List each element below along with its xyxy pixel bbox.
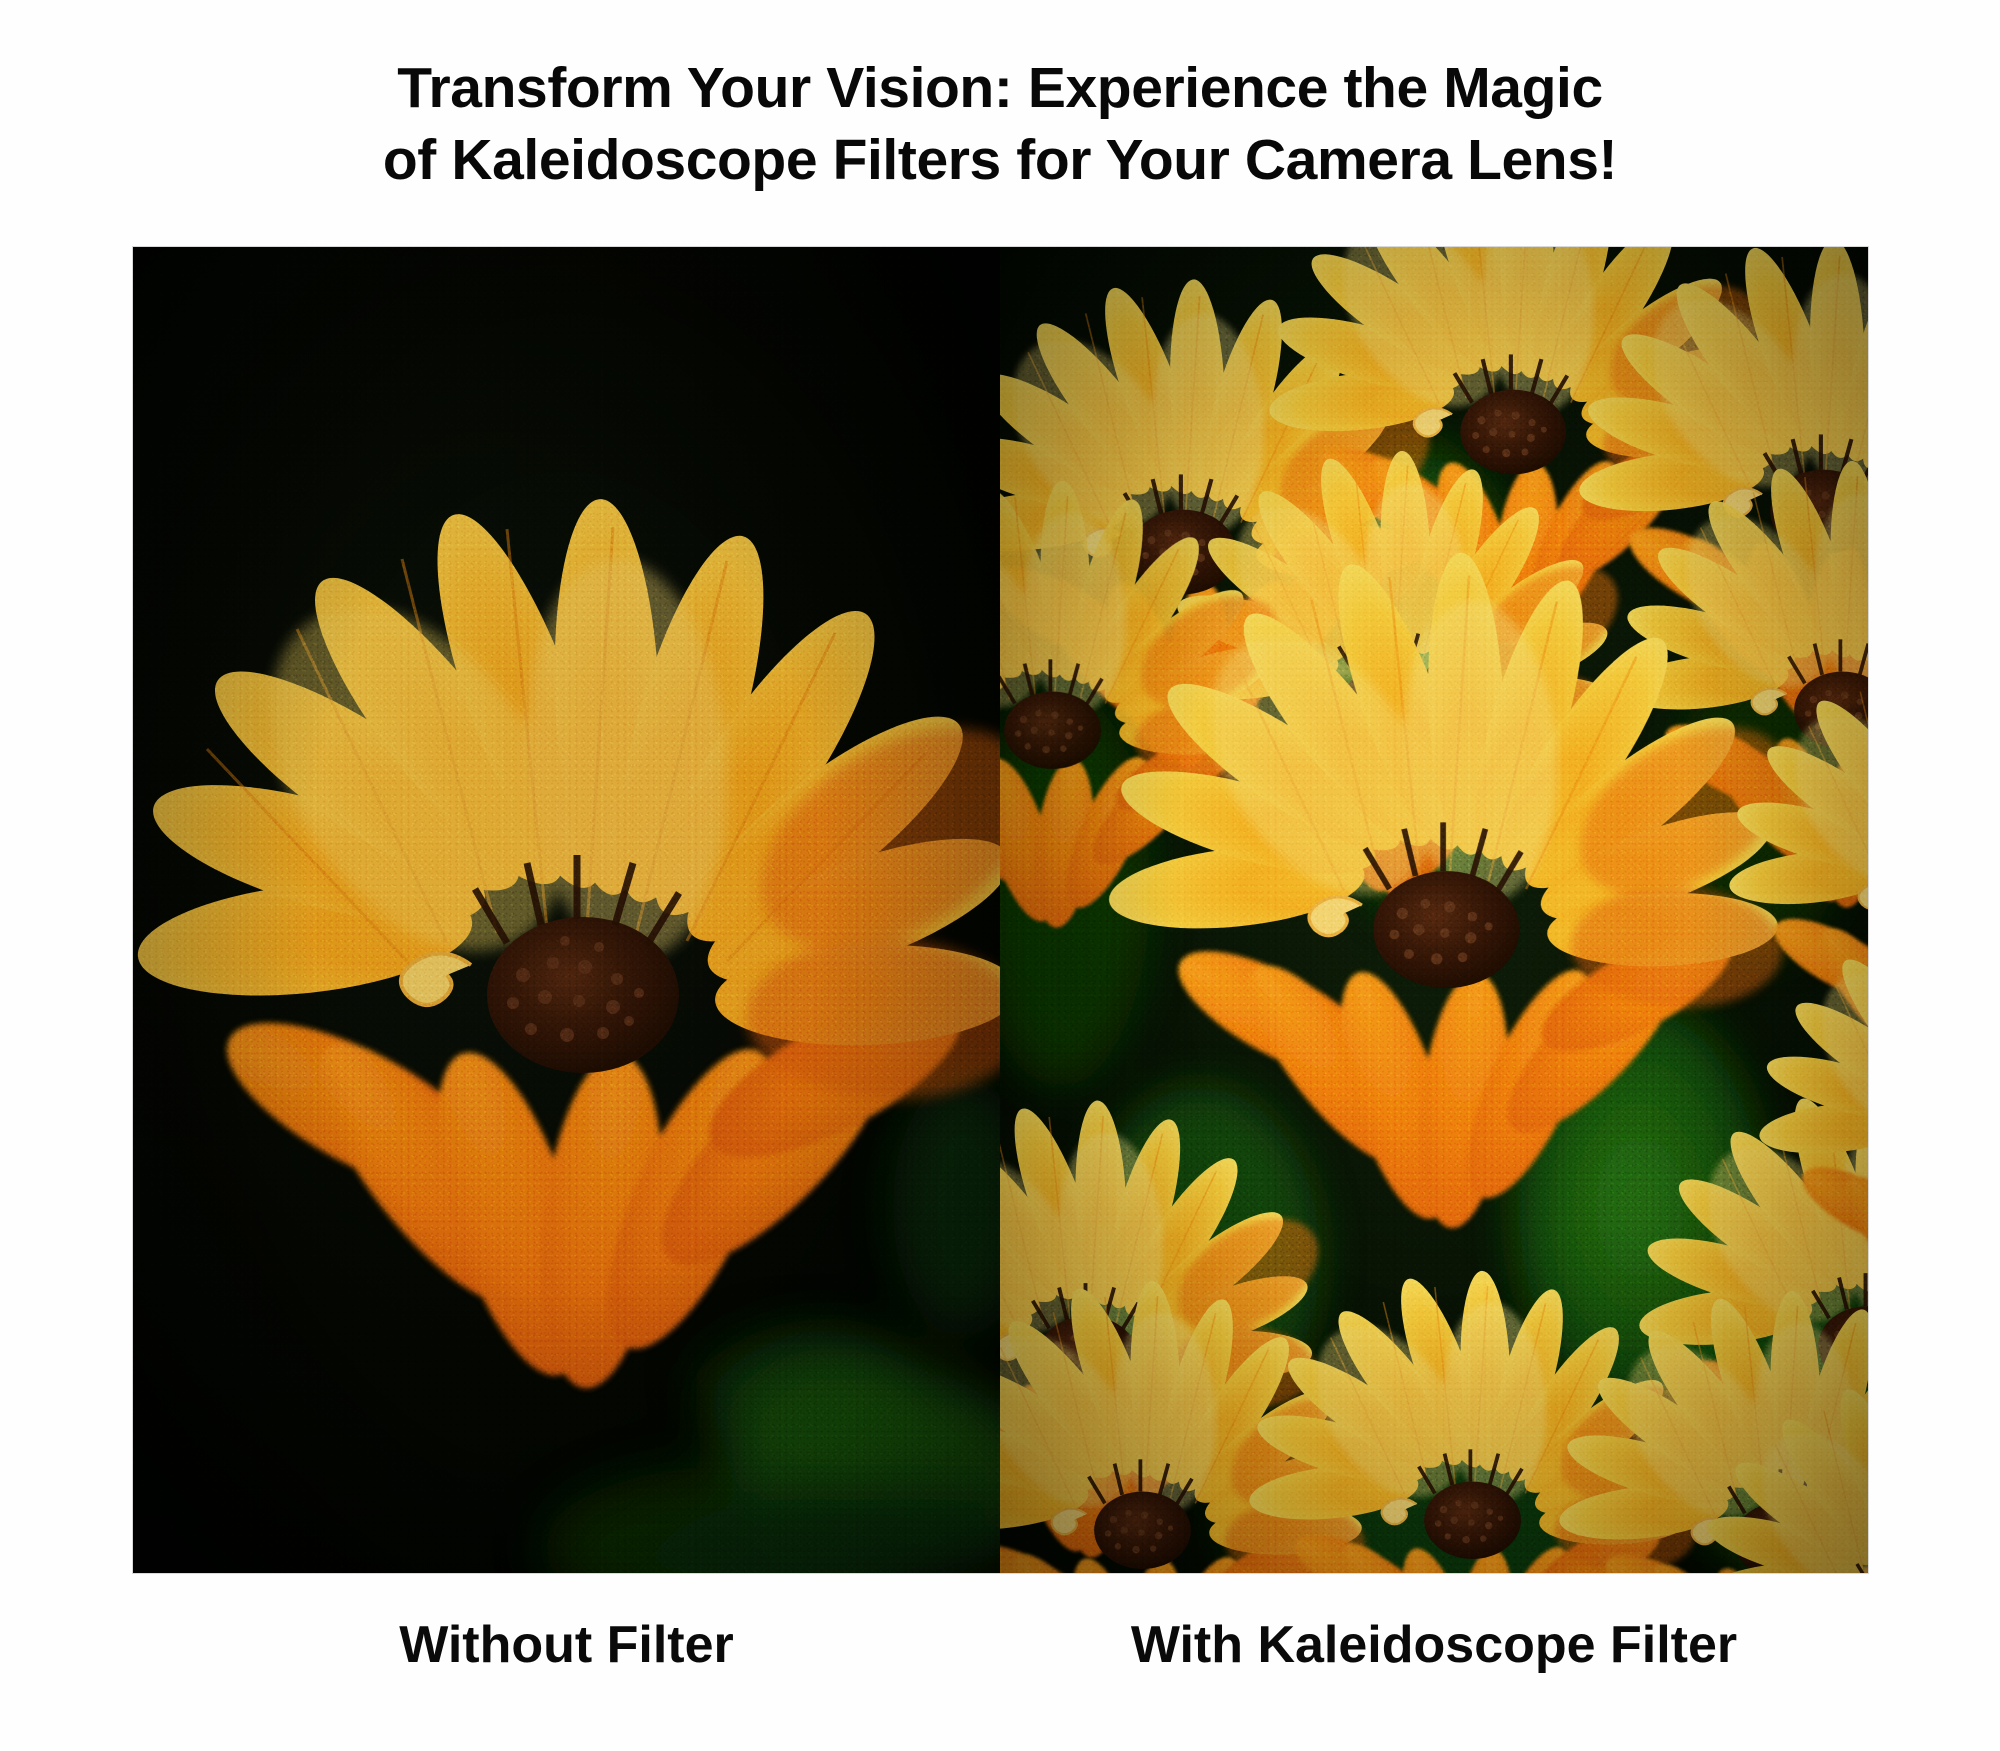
caption-with-filter: With Kaleidoscope Filter — [1000, 1613, 1868, 1677]
title-line-2: of Kaleidoscope Filters for Your Camera … — [0, 124, 2000, 196]
before-after-comparison — [133, 247, 1868, 1573]
poster-canvas: Transform Your Vision: Experience the Ma… — [0, 0, 2000, 1751]
flower-photo-kaleidoscope — [1000, 247, 1868, 1573]
flower-photo-unfiltered — [133, 247, 1000, 1573]
page-title: Transform Your Vision: Experience the Ma… — [0, 52, 2000, 196]
panel-with-kaleidoscope-filter — [1000, 247, 1868, 1573]
title-line-1: Transform Your Vision: Experience the Ma… — [0, 52, 2000, 124]
panel-without-filter — [133, 247, 1000, 1573]
caption-without-filter: Without Filter — [133, 1613, 1000, 1677]
caption-row: Without Filter With Kaleidoscope Filter — [133, 1613, 1868, 1677]
